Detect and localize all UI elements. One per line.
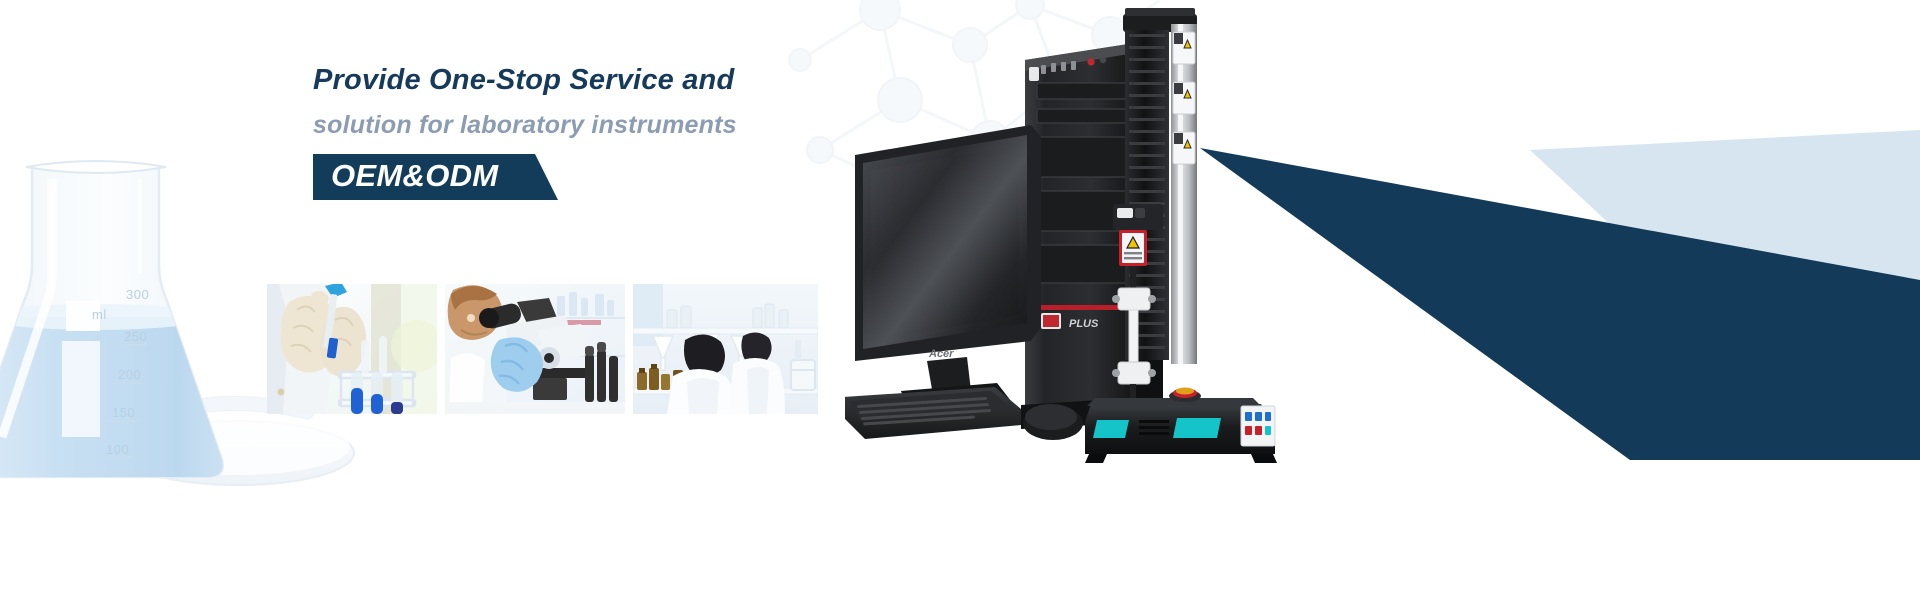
svg-text:100: 100: [106, 442, 129, 457]
oem-odm-tag-label: OEM&ODM: [331, 158, 498, 194]
headline-line-2: solution for laboratory instruments: [313, 102, 933, 148]
decor-arrow-group: [1200, 130, 1920, 460]
lab-workbench-photo: [633, 284, 818, 414]
lab-microscope-photo: [445, 284, 625, 414]
svg-text:Acer: Acer: [928, 348, 954, 360]
computer-monitor: Acer: [855, 125, 1041, 413]
svg-text:200: 200: [118, 367, 141, 382]
svg-text:150: 150: [112, 405, 135, 420]
svg-text:250: 250: [124, 329, 147, 344]
hero-banner: ml 300 250 200 150 100 Provide One-Stop …: [0, 0, 1920, 597]
svg-text:ml: ml: [92, 307, 107, 322]
svg-text:300: 300: [126, 287, 149, 302]
headline-line-1: Provide One-Stop Service and: [313, 58, 933, 102]
lab-pipetting-photo: [267, 284, 437, 414]
photo-strip: [267, 284, 818, 414]
warning-label: [1173, 32, 1195, 164]
headline-block: Provide One-Stop Service and solution fo…: [313, 58, 933, 200]
oem-odm-tag: OEM&ODM: [313, 154, 558, 200]
